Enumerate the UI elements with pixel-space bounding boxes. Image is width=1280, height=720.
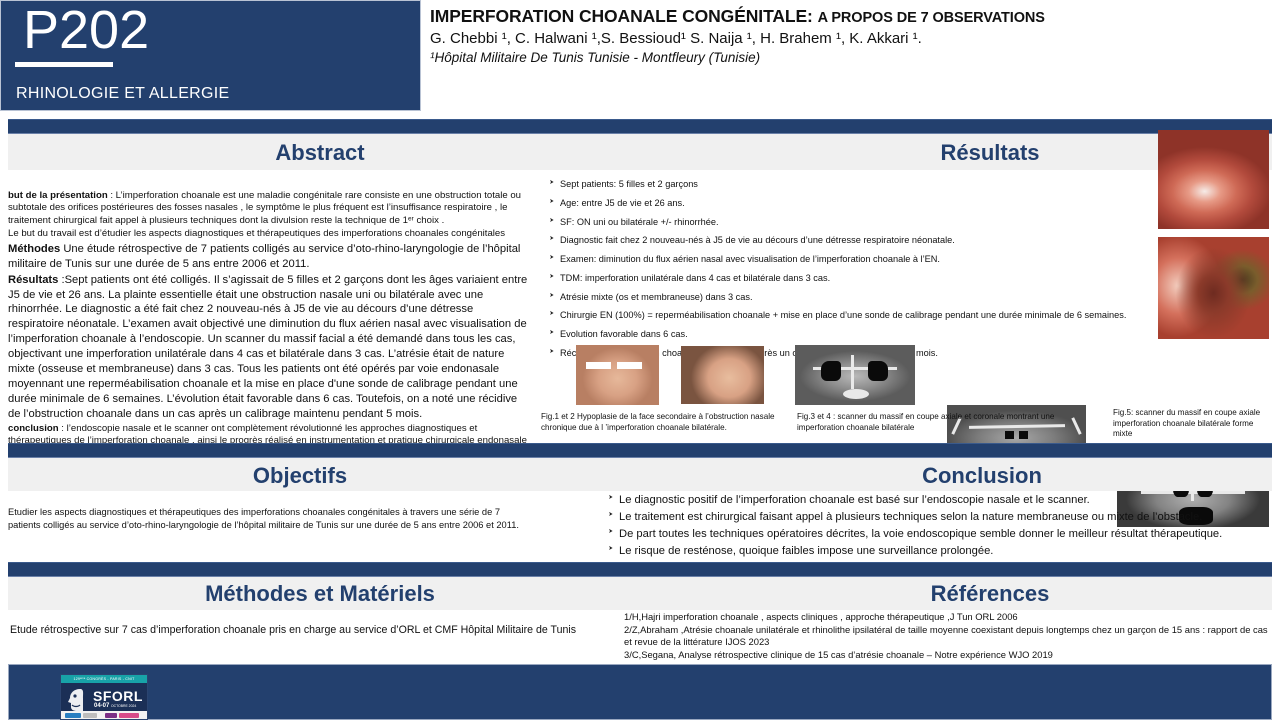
sforl-congress-logo: 129ᵉᵐᵉ CONGRÈS - PARIS - CNIT SFORL 04-0…: [60, 674, 148, 720]
list-item: TDM: imperforation unilatérale dans 4 ca…: [549, 273, 1149, 284]
logo-dates-note: OCTOBRE 2024: [111, 704, 136, 708]
section-title-methodes: Méthodes et Matériels: [180, 581, 460, 607]
title-block: IMPERFORATION CHOANALE CONGÉNITALE: A PR…: [430, 6, 1280, 65]
abstract-label-results: Résultats: [8, 274, 58, 286]
conclusion-list: Le diagnostic positif de l’imperforation…: [608, 494, 1268, 562]
abstract-paragraph-purpose: but de la présentation : L’imperforation…: [8, 190, 532, 227]
logo-congress-line: 129ᵉᵐᵉ CONGRÈS - PARIS - CNIT: [61, 675, 147, 683]
abstract-paragraph-methods: Méthodes Une étude rétrospective de 7 pa…: [8, 242, 532, 272]
list-item: 1/H,Hajri imperforation choanale , aspec…: [624, 611, 1272, 624]
patient-face-front-photo: [576, 345, 659, 405]
abstract-paragraph-goal: Le but du travail est d’étudier les aspe…: [8, 228, 532, 240]
logo-dates: 04-07 OCTOBRE 2024: [94, 703, 136, 709]
poster-id-banner: P202 RHINOLOGIE ET ALLERGIE: [0, 0, 421, 111]
section-bar-row1: [8, 119, 1272, 134]
page-title: IMPERFORATION CHOANALE CONGÉNITALE: A PR…: [430, 6, 1280, 27]
section-title-conclusion: Conclusion: [862, 463, 1102, 489]
list-item: De part toutes les techniques opératoire…: [608, 528, 1268, 541]
abstract-label-conclusion: conclusion: [8, 423, 59, 434]
list-item: Evolution favorable dans 6 cas.: [549, 329, 1149, 340]
section-bar-row2: [8, 443, 1272, 458]
abstract-text-results: :Sept patients ont été colligés. Il s’ag…: [8, 274, 527, 420]
endoscopy-photo-1: [1158, 130, 1269, 229]
list-item: Diagnostic fait chez 2 nouveau-nés à J5 …: [549, 235, 1149, 246]
list-item: Chirurgie EN (100%) = reperméabilisation…: [549, 310, 1149, 321]
logo-face-icon: [66, 687, 90, 713]
logo-partner-strip: [61, 711, 147, 719]
list-item: Atrésie mixte (os et membraneuse) dans 3…: [549, 292, 1149, 303]
banner-underline-rule: [15, 62, 113, 67]
logo-wordmark: SFORL: [93, 688, 143, 704]
references-list: 1/H,Hajri imperforation choanale , aspec…: [624, 611, 1272, 662]
list-item: Le risque de resténose, quoique faibles …: [608, 545, 1268, 558]
affiliation-line: ¹Hôpital Militaire De Tunis Tunisie - Mo…: [430, 50, 1280, 65]
logo-dates-value: 04-07: [94, 703, 109, 709]
list-item: Sept patients: 5 filles et 2 garçons: [549, 179, 1149, 190]
poster-number: P202: [23, 0, 149, 61]
section-title-objectifs: Objectifs: [180, 463, 420, 489]
authors-line: G. Chebbi ¹, C. Halwani ¹,S. Bessioud¹ S…: [430, 30, 1280, 47]
section-title-resultats: Résultats: [870, 140, 1110, 166]
resultats-list: Sept patients: 5 filles et 2 garçons Age…: [549, 179, 1149, 367]
list-item: 2/Z,Abraham ,Atrésie choanale unilatéral…: [624, 624, 1272, 649]
poster-root: P202 RHINOLOGIE ET ALLERGIE IMPERFORATIO…: [0, 0, 1280, 720]
abstract-label-purpose: but de la présentation: [8, 190, 108, 201]
section-bar-row3: [8, 562, 1272, 577]
list-item: Examen: diminution du flux aérien nasal …: [549, 254, 1149, 265]
figure-caption-1: Fig.1 et 2 Hypoplasie de la face seconda…: [541, 412, 793, 433]
section-title-abstract: Abstract: [200, 140, 440, 166]
objectifs-body: Etudier les aspects diagnostiques et thé…: [8, 506, 528, 532]
section-title-references: Références: [870, 581, 1110, 607]
censor-bar-right-eye: [617, 362, 642, 369]
patient-face-profile-photo: [681, 346, 764, 404]
footer-bar: [8, 664, 1272, 720]
figure-caption-3: Fig.5: scanner du massif en coupe axiale…: [1113, 408, 1263, 440]
figure-caption-2: Fig.3 et 4 : scanner du massif en coupe …: [797, 412, 1087, 433]
list-item: SF: ON uni ou bilatérale +/- rhinorrhée.: [549, 217, 1149, 228]
poster-category-label: RHINOLOGIE ET ALLERGIE: [16, 85, 229, 103]
abstract-paragraph-results: Résultats :Sept patients ont été colligé…: [8, 273, 532, 422]
list-item: Le diagnostic positif de l’imperforation…: [608, 494, 1268, 507]
page-title-main: IMPERFORATION CHOANALE CONGÉNITALE:: [430, 6, 813, 26]
endoscopy-photo-2: [1158, 237, 1269, 339]
abstract-text-methods: Une étude rétrospective de 7 patients co…: [8, 243, 520, 270]
abstract-body: but de la présentation : L’imperforation…: [8, 190, 532, 461]
list-item: 3/C,Segana, Analyse rétrospective cliniq…: [624, 649, 1272, 662]
methodes-body: Etude rétrospective sur 7 cas d’imperfor…: [10, 624, 600, 638]
ct-axial-scan-1: [795, 345, 915, 405]
list-item: Le traitement est chirurgical faisant ap…: [608, 511, 1268, 524]
censor-bar-left-eye: [586, 362, 611, 369]
abstract-label-methods: Méthodes: [8, 243, 60, 255]
list-item: Age: entre J5 de vie et 26 ans.: [549, 198, 1149, 209]
page-title-sub: A PROPOS DE 7 OBSERVATIONS: [818, 10, 1045, 26]
